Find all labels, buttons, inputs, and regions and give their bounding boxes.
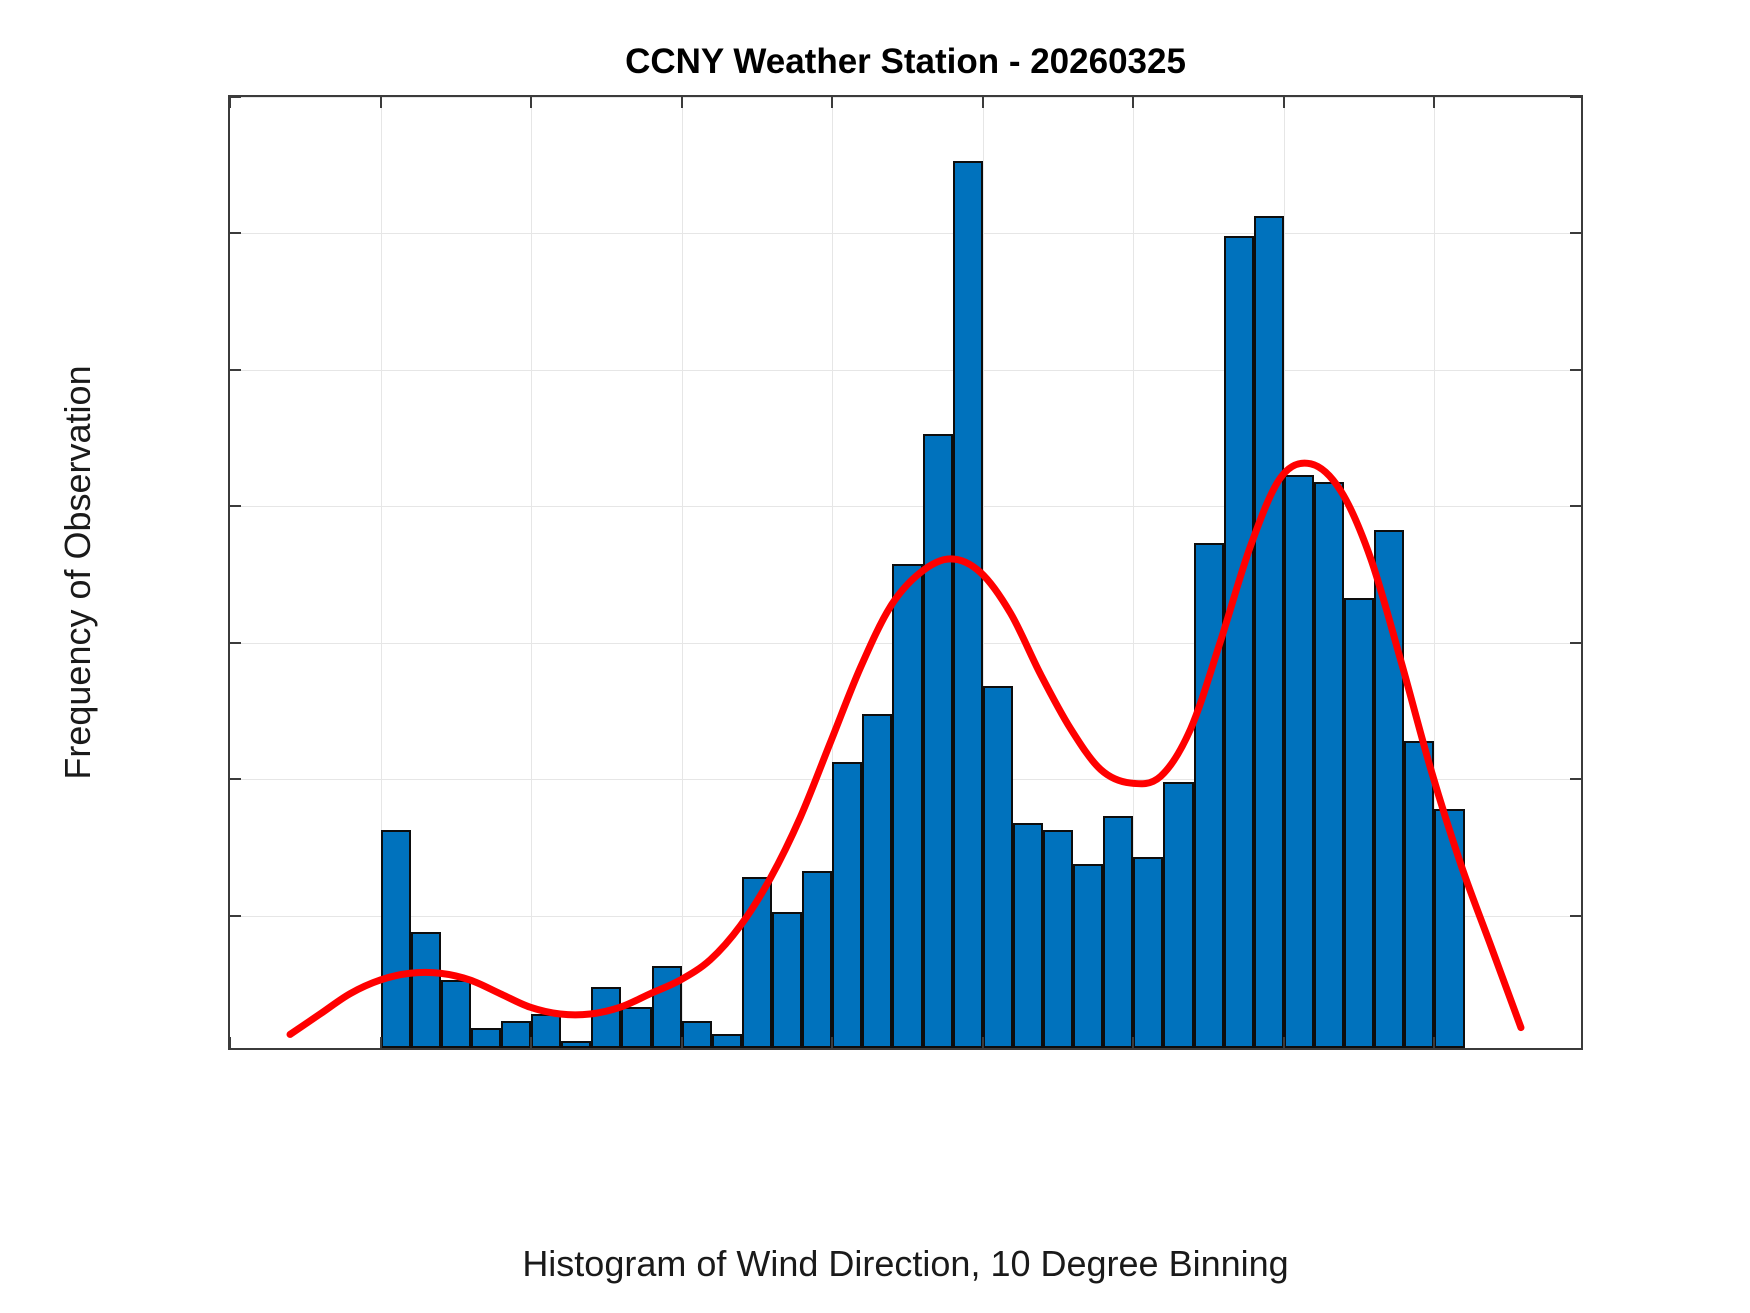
histogram-bar xyxy=(802,871,832,1048)
histogram-bar xyxy=(832,762,862,1049)
histogram-bar xyxy=(1224,236,1254,1048)
histogram-bar xyxy=(591,987,621,1048)
histogram-bar xyxy=(1043,830,1073,1048)
histogram-bar xyxy=(1284,475,1314,1048)
histogram-bar xyxy=(983,686,1013,1048)
x-tick-top xyxy=(1132,97,1134,108)
histogram-bar xyxy=(621,1007,651,1048)
gridline-horizontal xyxy=(230,97,1581,98)
histogram-bar xyxy=(742,877,772,1048)
x-tick xyxy=(1132,1037,1134,1048)
y-tick xyxy=(230,232,241,234)
y-tick xyxy=(230,915,241,917)
histogram-bar xyxy=(652,966,682,1048)
histogram-bar xyxy=(682,1021,712,1048)
gridline-vertical xyxy=(682,97,683,1048)
histogram-bar xyxy=(862,714,892,1048)
y-tick-right xyxy=(1570,232,1581,234)
histogram-bar xyxy=(1103,816,1133,1048)
gridline-horizontal xyxy=(230,506,1581,507)
histogram-bar xyxy=(1163,782,1193,1048)
histogram-bar xyxy=(471,1028,501,1048)
gridline-horizontal xyxy=(230,370,1581,371)
y-tick-right xyxy=(1570,96,1581,98)
histogram-bar xyxy=(441,980,471,1048)
x-tick xyxy=(982,1037,984,1048)
histogram-bar xyxy=(1374,530,1404,1048)
x-tick xyxy=(831,1037,833,1048)
gridline-horizontal xyxy=(230,233,1581,234)
histogram-bar xyxy=(923,434,953,1048)
histogram-bar xyxy=(1073,864,1103,1048)
histogram-bar xyxy=(561,1041,591,1048)
x-tick xyxy=(1433,1037,1435,1048)
plot-area: 020406080100120140 -50050100150200250300… xyxy=(228,95,1583,1050)
x-tick-top xyxy=(530,97,532,108)
histogram-bar xyxy=(531,1014,561,1048)
y-axis-title: Frequency of Observation xyxy=(48,95,108,1050)
y-tick-right xyxy=(1570,369,1581,371)
y-axis-title-wrapper: Frequency of Observation xyxy=(48,95,108,1050)
histogram-bar xyxy=(1434,809,1464,1048)
gridline-vertical xyxy=(531,97,532,1048)
x-tick-top xyxy=(982,97,984,108)
x-tick-top xyxy=(681,97,683,108)
x-tick-top xyxy=(229,97,231,108)
x-tick xyxy=(530,1037,532,1048)
histogram-bar xyxy=(411,932,441,1048)
x-tick-top xyxy=(831,97,833,108)
histogram-bar xyxy=(1254,216,1284,1048)
chart-title: CCNY Weather Station - 20260325 xyxy=(228,42,1583,82)
y-tick xyxy=(230,642,241,644)
figure: CCNY Weather Station - 20260325 02040608… xyxy=(0,0,1750,1313)
histogram-bar xyxy=(1344,598,1374,1048)
histogram-bar xyxy=(1194,543,1224,1048)
y-tick xyxy=(230,505,241,507)
histogram-bar xyxy=(1013,823,1043,1048)
x-tick xyxy=(229,1037,231,1048)
y-tick-right xyxy=(1570,505,1581,507)
x-tick-top xyxy=(1433,97,1435,108)
y-tick-right xyxy=(1570,915,1581,917)
histogram-bar xyxy=(772,912,802,1048)
histogram-bar xyxy=(1404,741,1434,1048)
histogram-bar xyxy=(712,1034,742,1048)
y-tick xyxy=(230,778,241,780)
histogram-bar xyxy=(953,161,983,1048)
histogram-bar xyxy=(381,830,411,1048)
x-tick-top xyxy=(380,97,382,108)
histogram-bar xyxy=(501,1021,531,1048)
x-tick xyxy=(1283,1037,1285,1048)
y-tick xyxy=(230,369,241,371)
y-tick-right xyxy=(1570,778,1581,780)
histogram-bar xyxy=(1314,482,1344,1048)
histogram-bar xyxy=(892,564,922,1048)
y-tick-right xyxy=(1570,642,1581,644)
x-tick xyxy=(380,1037,382,1048)
x-axis-title: Histogram of Wind Direction, 10 Degree B… xyxy=(228,1243,1583,1285)
y-tick xyxy=(230,96,241,98)
x-tick xyxy=(681,1037,683,1048)
histogram-bar xyxy=(1133,857,1163,1048)
x-tick-top xyxy=(1283,97,1285,108)
